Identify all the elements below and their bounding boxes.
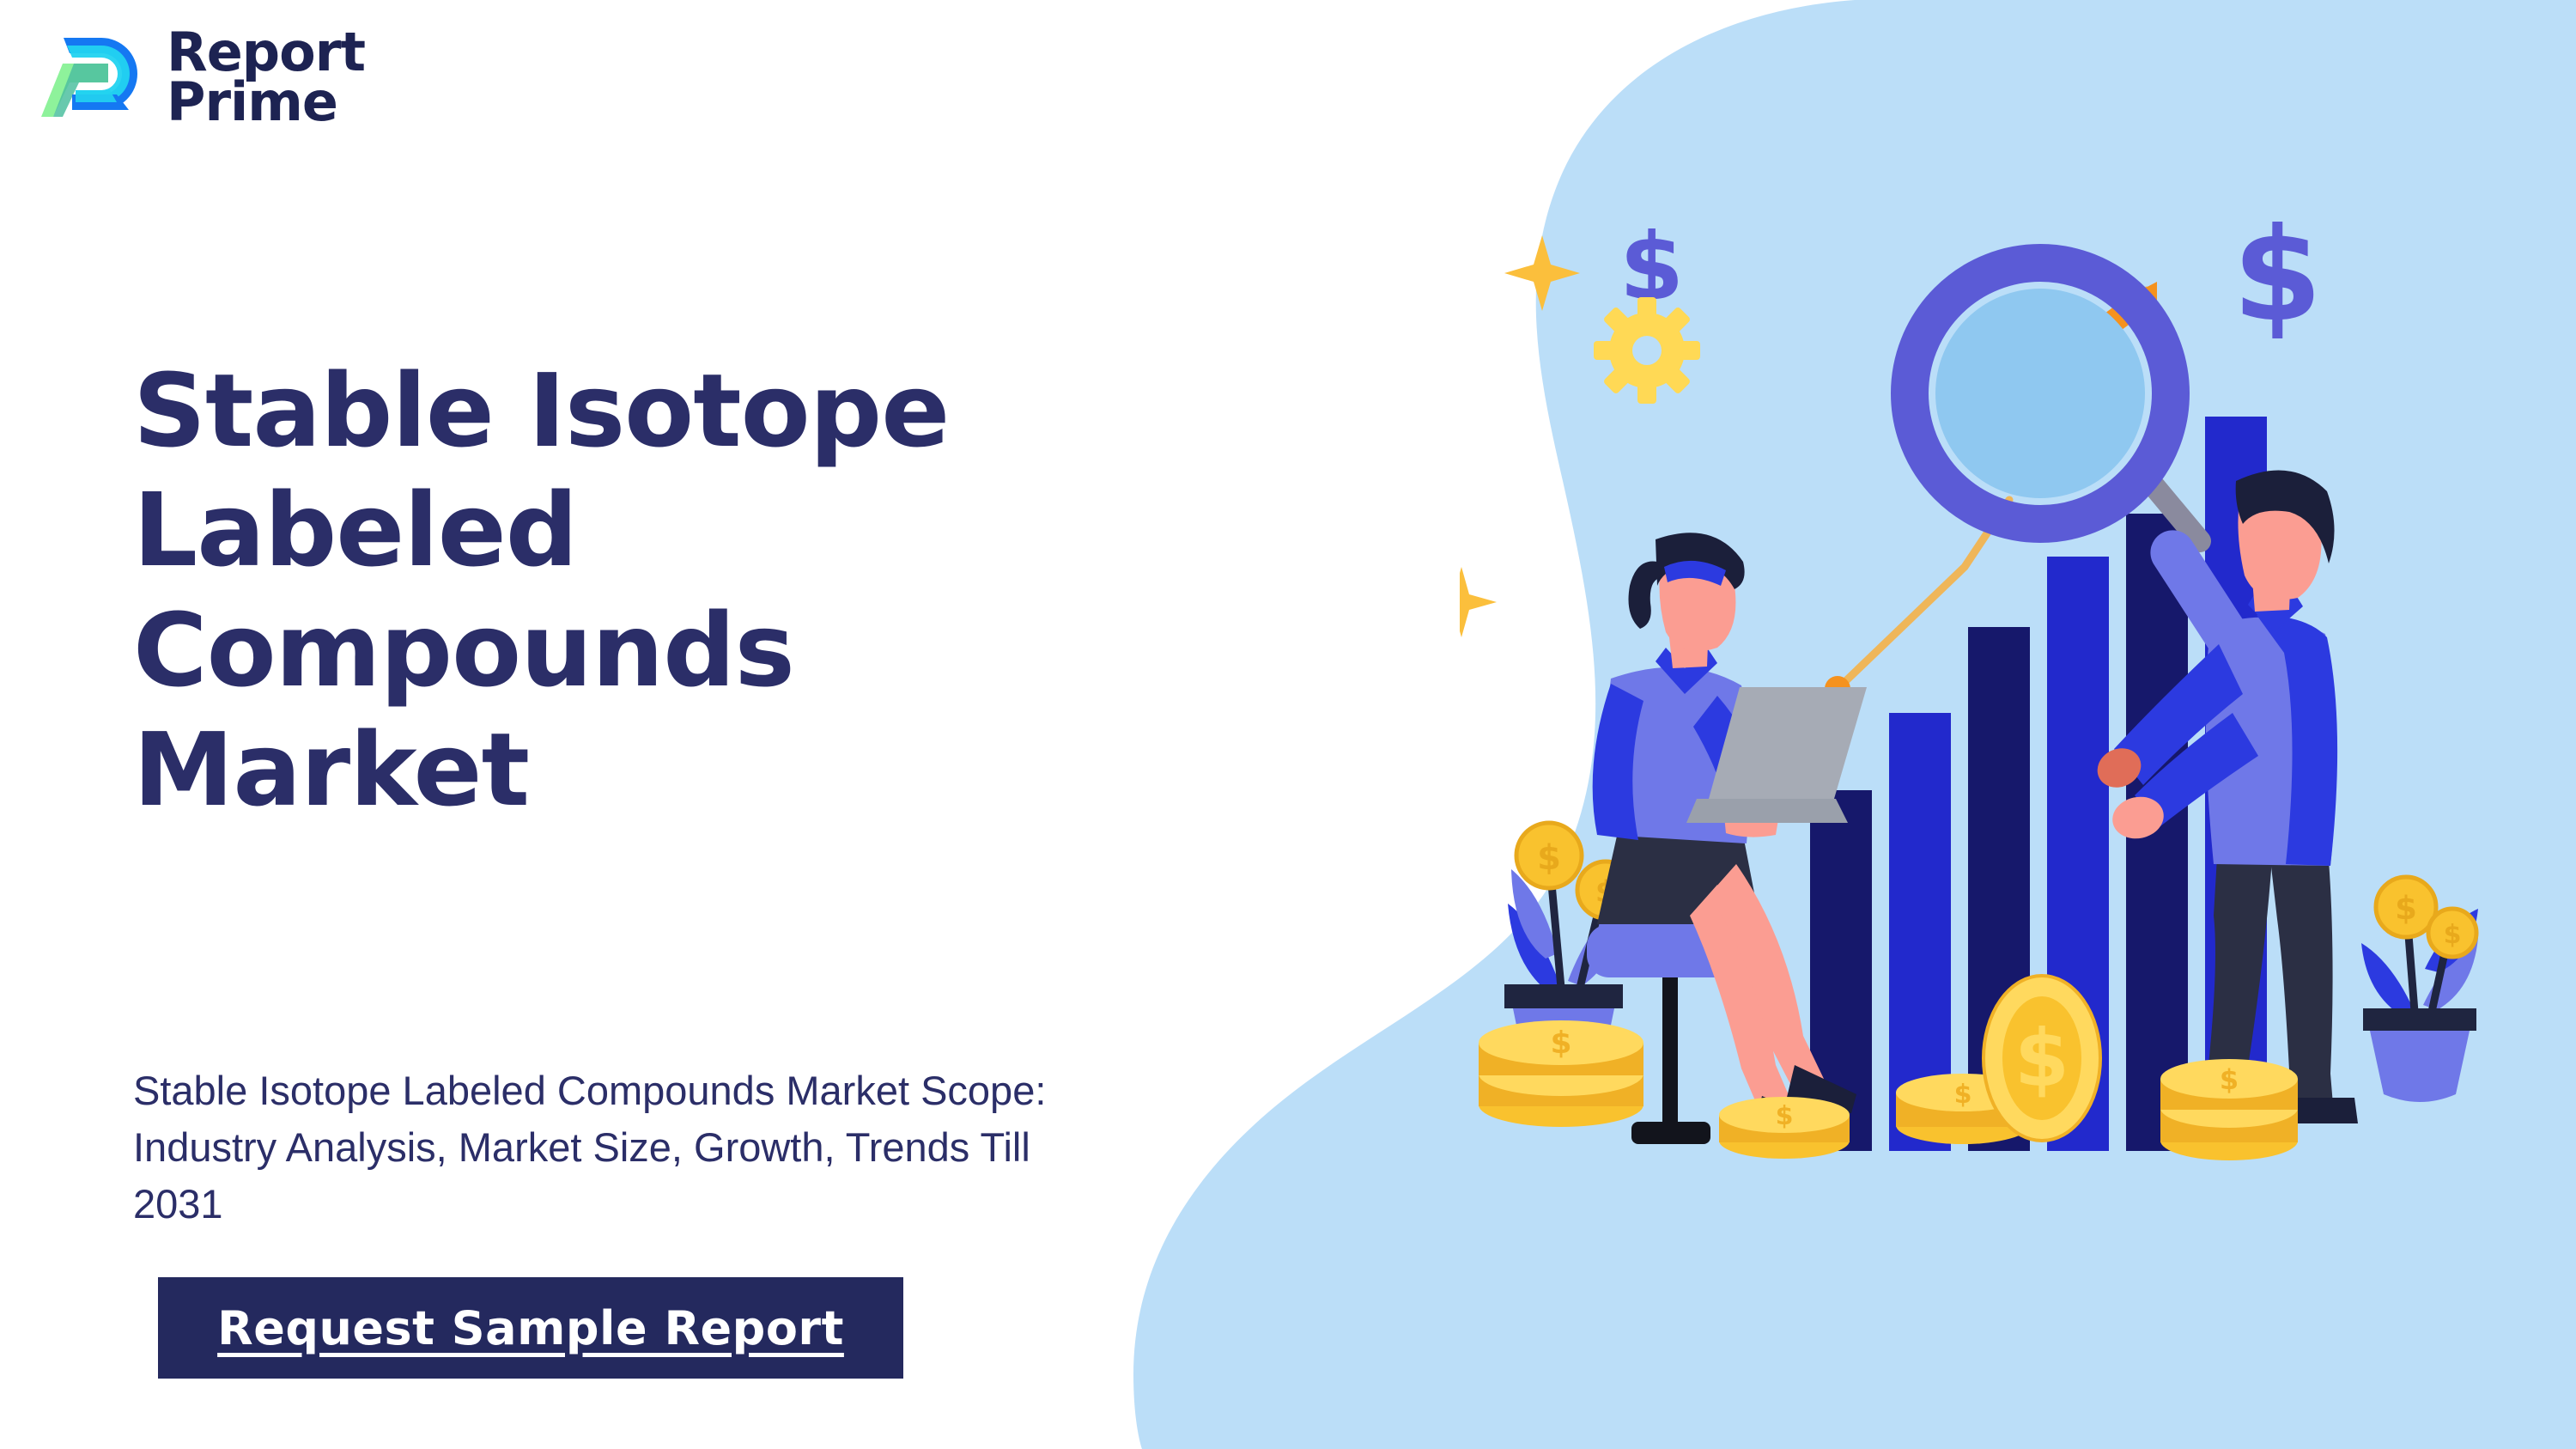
coin-stack-2: $ [1719,1097,1850,1159]
svg-text:$: $ [2220,1063,2239,1096]
svg-text:$: $ [1954,1080,1972,1110]
request-sample-report-button[interactable]: Request Sample Report [158,1277,903,1379]
big-coin: $ [1984,976,2100,1141]
market-research-illustration: $ $ [1460,198,2542,1168]
coin-stack-4: $ [2160,1059,2298,1160]
poster-canvas: Report Prime Stable Isotope Labeled Comp… [0,0,2576,1449]
dollar-sign-large-icon: $ [2233,201,2322,350]
svg-text:$: $ [2014,1013,2069,1105]
brand-name-line2: Prime [167,77,365,127]
report-prime-r-logo-icon [34,22,144,132]
gear-icon [1594,297,1700,404]
request-sample-report-label: Request Sample Report [217,1301,844,1355]
svg-text:$: $ [1776,1101,1794,1131]
page-subtitle: Stable Isotope Labeled Compounds Market … [133,1062,1593,1232]
brand-logo[interactable]: Report Prime [34,22,365,132]
svg-text:$: $ [2444,920,2462,950]
svg-text:$: $ [2395,890,2417,927]
sparkle-star-icon [1460,235,1580,637]
coin-stack-1: $ [1479,1020,1643,1127]
svg-text:$: $ [1537,838,1561,878]
page-title: Stable Isotope Labeled Compounds Market [133,351,1361,830]
svg-text:$: $ [1550,1026,1571,1061]
money-plant-right: $ $ [2361,877,2478,1102]
svg-text:$: $ [2233,201,2322,350]
